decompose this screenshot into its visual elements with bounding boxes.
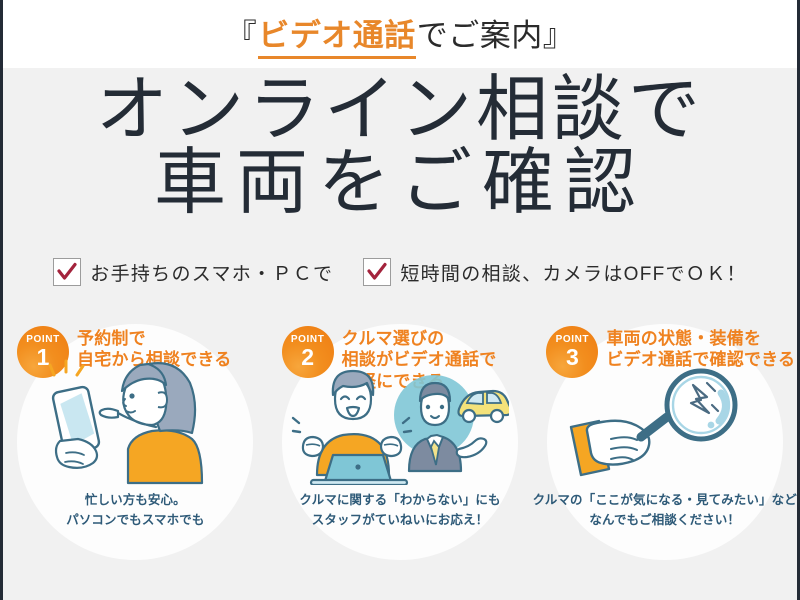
- point-column-3: POINT 3 車両の状態・装備を ビデオ通話で確認できる: [532, 318, 797, 568]
- header-plain: でご案内: [417, 10, 543, 55]
- woman-at-laptop-and-staff-with-car-illustration: [291, 363, 509, 490]
- points-section: POINT 1 予約制で 自宅から相談できる: [3, 318, 797, 568]
- check-item: お手持ちのスマホ・ＰＣで: [53, 258, 333, 286]
- point-caption-line: 忙しい方も安心。: [3, 491, 268, 510]
- online-consultation-banner: 『 ビデオ通話 でご案内 』 オンライン相談で 車両をご確認 お手持ちのスマホ・…: [0, 0, 800, 600]
- header-text: 『 ビデオ通話 でご案内 』: [226, 10, 575, 59]
- header-highlight: ビデオ通話: [258, 10, 416, 59]
- close-bracket: 』: [543, 10, 575, 55]
- point-caption-line: パソコンでもスマホでも: [3, 511, 268, 530]
- point-caption-line: クルマに関する「わからない」にも: [268, 491, 533, 510]
- checkmark-icon: [363, 258, 391, 286]
- headline-line-2: 車両をご確認: [3, 147, 797, 220]
- check-label: 短時間の相談、カメラはOFFでＯＫ！: [400, 259, 746, 286]
- feature-check-row: お手持ちのスマホ・ＰＣで 短時間の相談、カメラはOFFでＯＫ！: [3, 258, 797, 286]
- check-item: 短時間の相談、カメラはOFFでＯＫ！: [363, 258, 746, 286]
- point-column-2: POINT 2 クルマ選びの 相談がビデオ通話で 気軽にできる: [268, 318, 533, 568]
- page-title: オンライン相談で 車両をご確認: [3, 74, 797, 221]
- checkmark-icon: [53, 258, 81, 286]
- point-caption-1: 忙しい方も安心。 パソコンでもスマホでも: [3, 491, 268, 530]
- point-title-line: 車両の状態・装備を: [606, 328, 795, 349]
- point-caption-3: クルマの「ここが気になる・見てみたい」など なんでもご相談ください！: [532, 491, 797, 530]
- point-column-1: POINT 1 予約制で 自宅から相談できる: [3, 318, 268, 568]
- check-label: お手持ちのスマホ・ＰＣで: [90, 259, 333, 286]
- point-title-line: クルマ選びの: [342, 328, 497, 349]
- header-band: 『 ビデオ通話 でご案内 』: [3, 0, 797, 68]
- point-title-3: 車両の状態・装備を ビデオ通話で確認できる: [606, 326, 795, 371]
- hand-with-magnifying-glass-illustration: [565, 365, 765, 490]
- woman-with-smartphone-illustration: [40, 345, 230, 490]
- headline-line-1: オンライン相談で: [3, 74, 797, 147]
- point-caption-line: クルマの「ここが気になる・見てみたい」など: [532, 491, 797, 510]
- open-bracket: 『: [226, 10, 258, 55]
- point-caption-2: クルマに関する「わからない」にも スタッフがていねいにお応え！: [268, 491, 533, 530]
- point-caption-line: なんでもご相談ください！: [532, 511, 797, 530]
- point-caption-line: スタッフがていねいにお応え！: [268, 511, 533, 530]
